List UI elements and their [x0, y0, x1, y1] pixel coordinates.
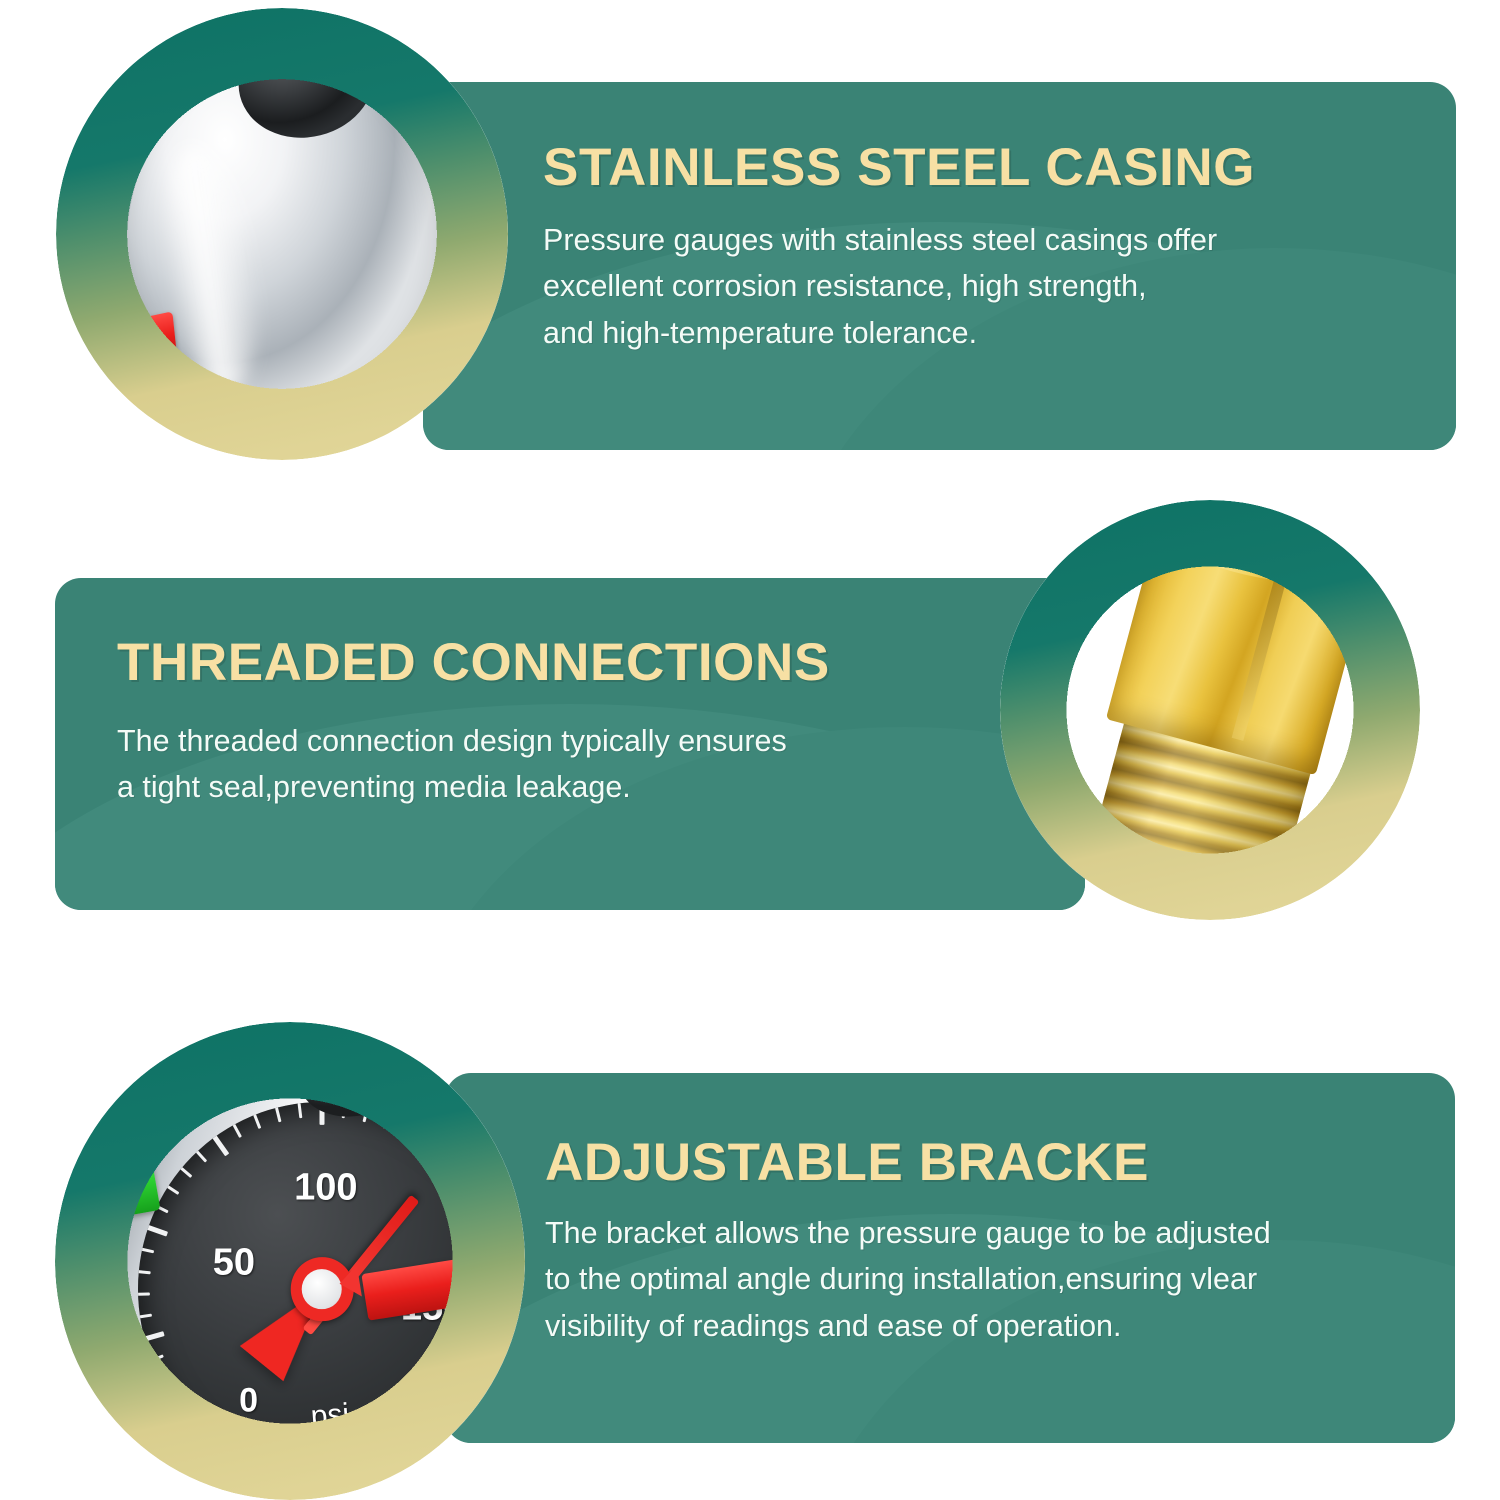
- feature-panel-threaded-connections: THREADED CONNECTIONS The threaded connec…: [55, 578, 1085, 910]
- feature-body-line: and high-temperature tolerance.: [543, 310, 1456, 356]
- feature-body: The bracket allows the pressure gauge to…: [545, 1210, 1455, 1349]
- feature-body-line: to the optimal angle during installation…: [545, 1256, 1455, 1302]
- feature-body-line: Pressure gauges with stainless steel cas…: [543, 217, 1456, 263]
- pressure-gauge-dial-photo: 50 100 150 0 20 psi: [55, 1022, 525, 1500]
- medallion-ring: [56, 8, 508, 460]
- stainless-steel-gauge-case-photo: [56, 8, 508, 460]
- feature-body-line: The bracket allows the pressure gauge to…: [545, 1210, 1455, 1256]
- medallion-ring: [55, 1022, 525, 1500]
- feature-panel-stainless-steel-casing: STAINLESS STEEL CASING Pressure gauges w…: [423, 82, 1456, 450]
- feature-body-line: The threaded connection design typically…: [117, 718, 1085, 764]
- feature-body-line: a tight seal,preventing media leakage.: [117, 764, 1085, 810]
- feature-body-line: excellent corrosion resistance, high str…: [543, 263, 1456, 309]
- medallion-ring: [1000, 500, 1420, 920]
- feature-body: Pressure gauges with stainless steel cas…: [543, 217, 1456, 356]
- feature-title: THREADED CONNECTIONS: [117, 635, 1085, 690]
- infographic-canvas: STAINLESS STEEL CASING Pressure gauges w…: [0, 0, 1500, 1500]
- feature-body-line: visibility of readings and ease of opera…: [545, 1303, 1455, 1349]
- brass-threaded-fitting-photo: [1000, 500, 1420, 920]
- feature-title: STAINLESS STEEL CASING: [543, 140, 1456, 195]
- feature-body: The threaded connection design typically…: [117, 718, 1085, 811]
- feature-panel-adjustable-bracket: ADJUSTABLE BRACKE The bracket allows the…: [445, 1073, 1455, 1443]
- feature-title: ADJUSTABLE BRACKE: [545, 1135, 1455, 1190]
